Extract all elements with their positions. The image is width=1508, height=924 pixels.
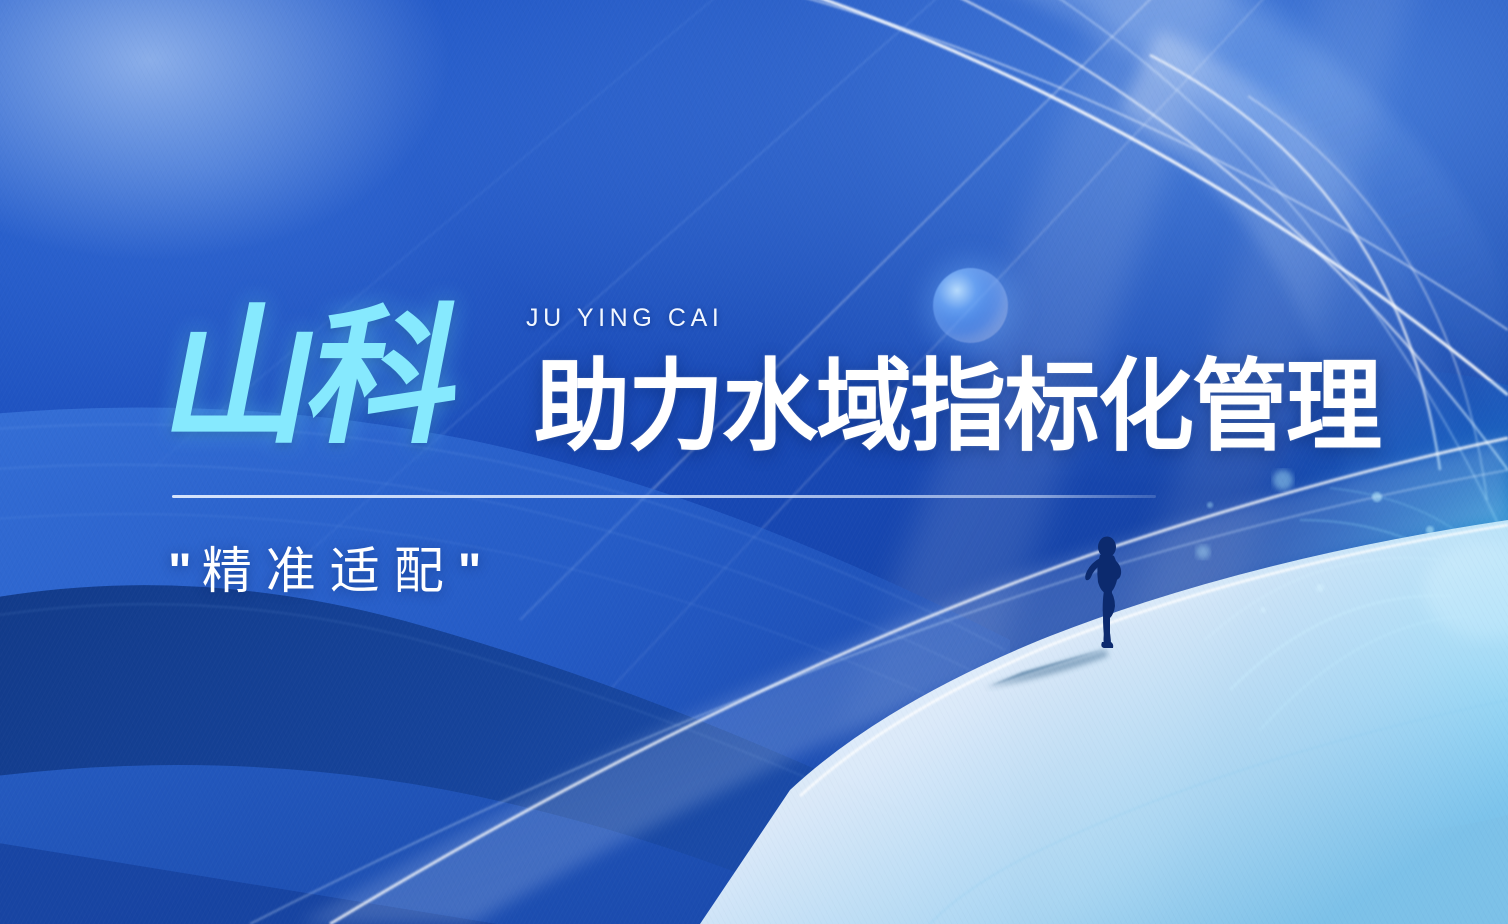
banner-content: 山科 JU YING CAI 助力水域指标化管理 "精准适配" (0, 0, 1508, 924)
promo-banner: 山科 JU YING CAI 助力水域指标化管理 "精准适配" (0, 0, 1508, 924)
runner-silhouette (1073, 536, 1139, 648)
brand-row: 山科 JU YING CAI 助力水域指标化管理 (168, 296, 1398, 468)
runner-silhouette-svg (1073, 536, 1139, 648)
subtitle-text: 精准适配 (202, 543, 458, 599)
brand-name-pinyin: JU YING CAI (526, 306, 723, 331)
headline-text: 助力水域指标化管理 (534, 358, 1380, 458)
subtitle-row: "精准适配" (168, 540, 491, 602)
divider-line (172, 495, 1156, 498)
brand-name-chinese: 山科 (153, 302, 470, 452)
subtitle-close-quote: " (458, 543, 492, 599)
subtitle-open-quote: " (168, 543, 202, 599)
